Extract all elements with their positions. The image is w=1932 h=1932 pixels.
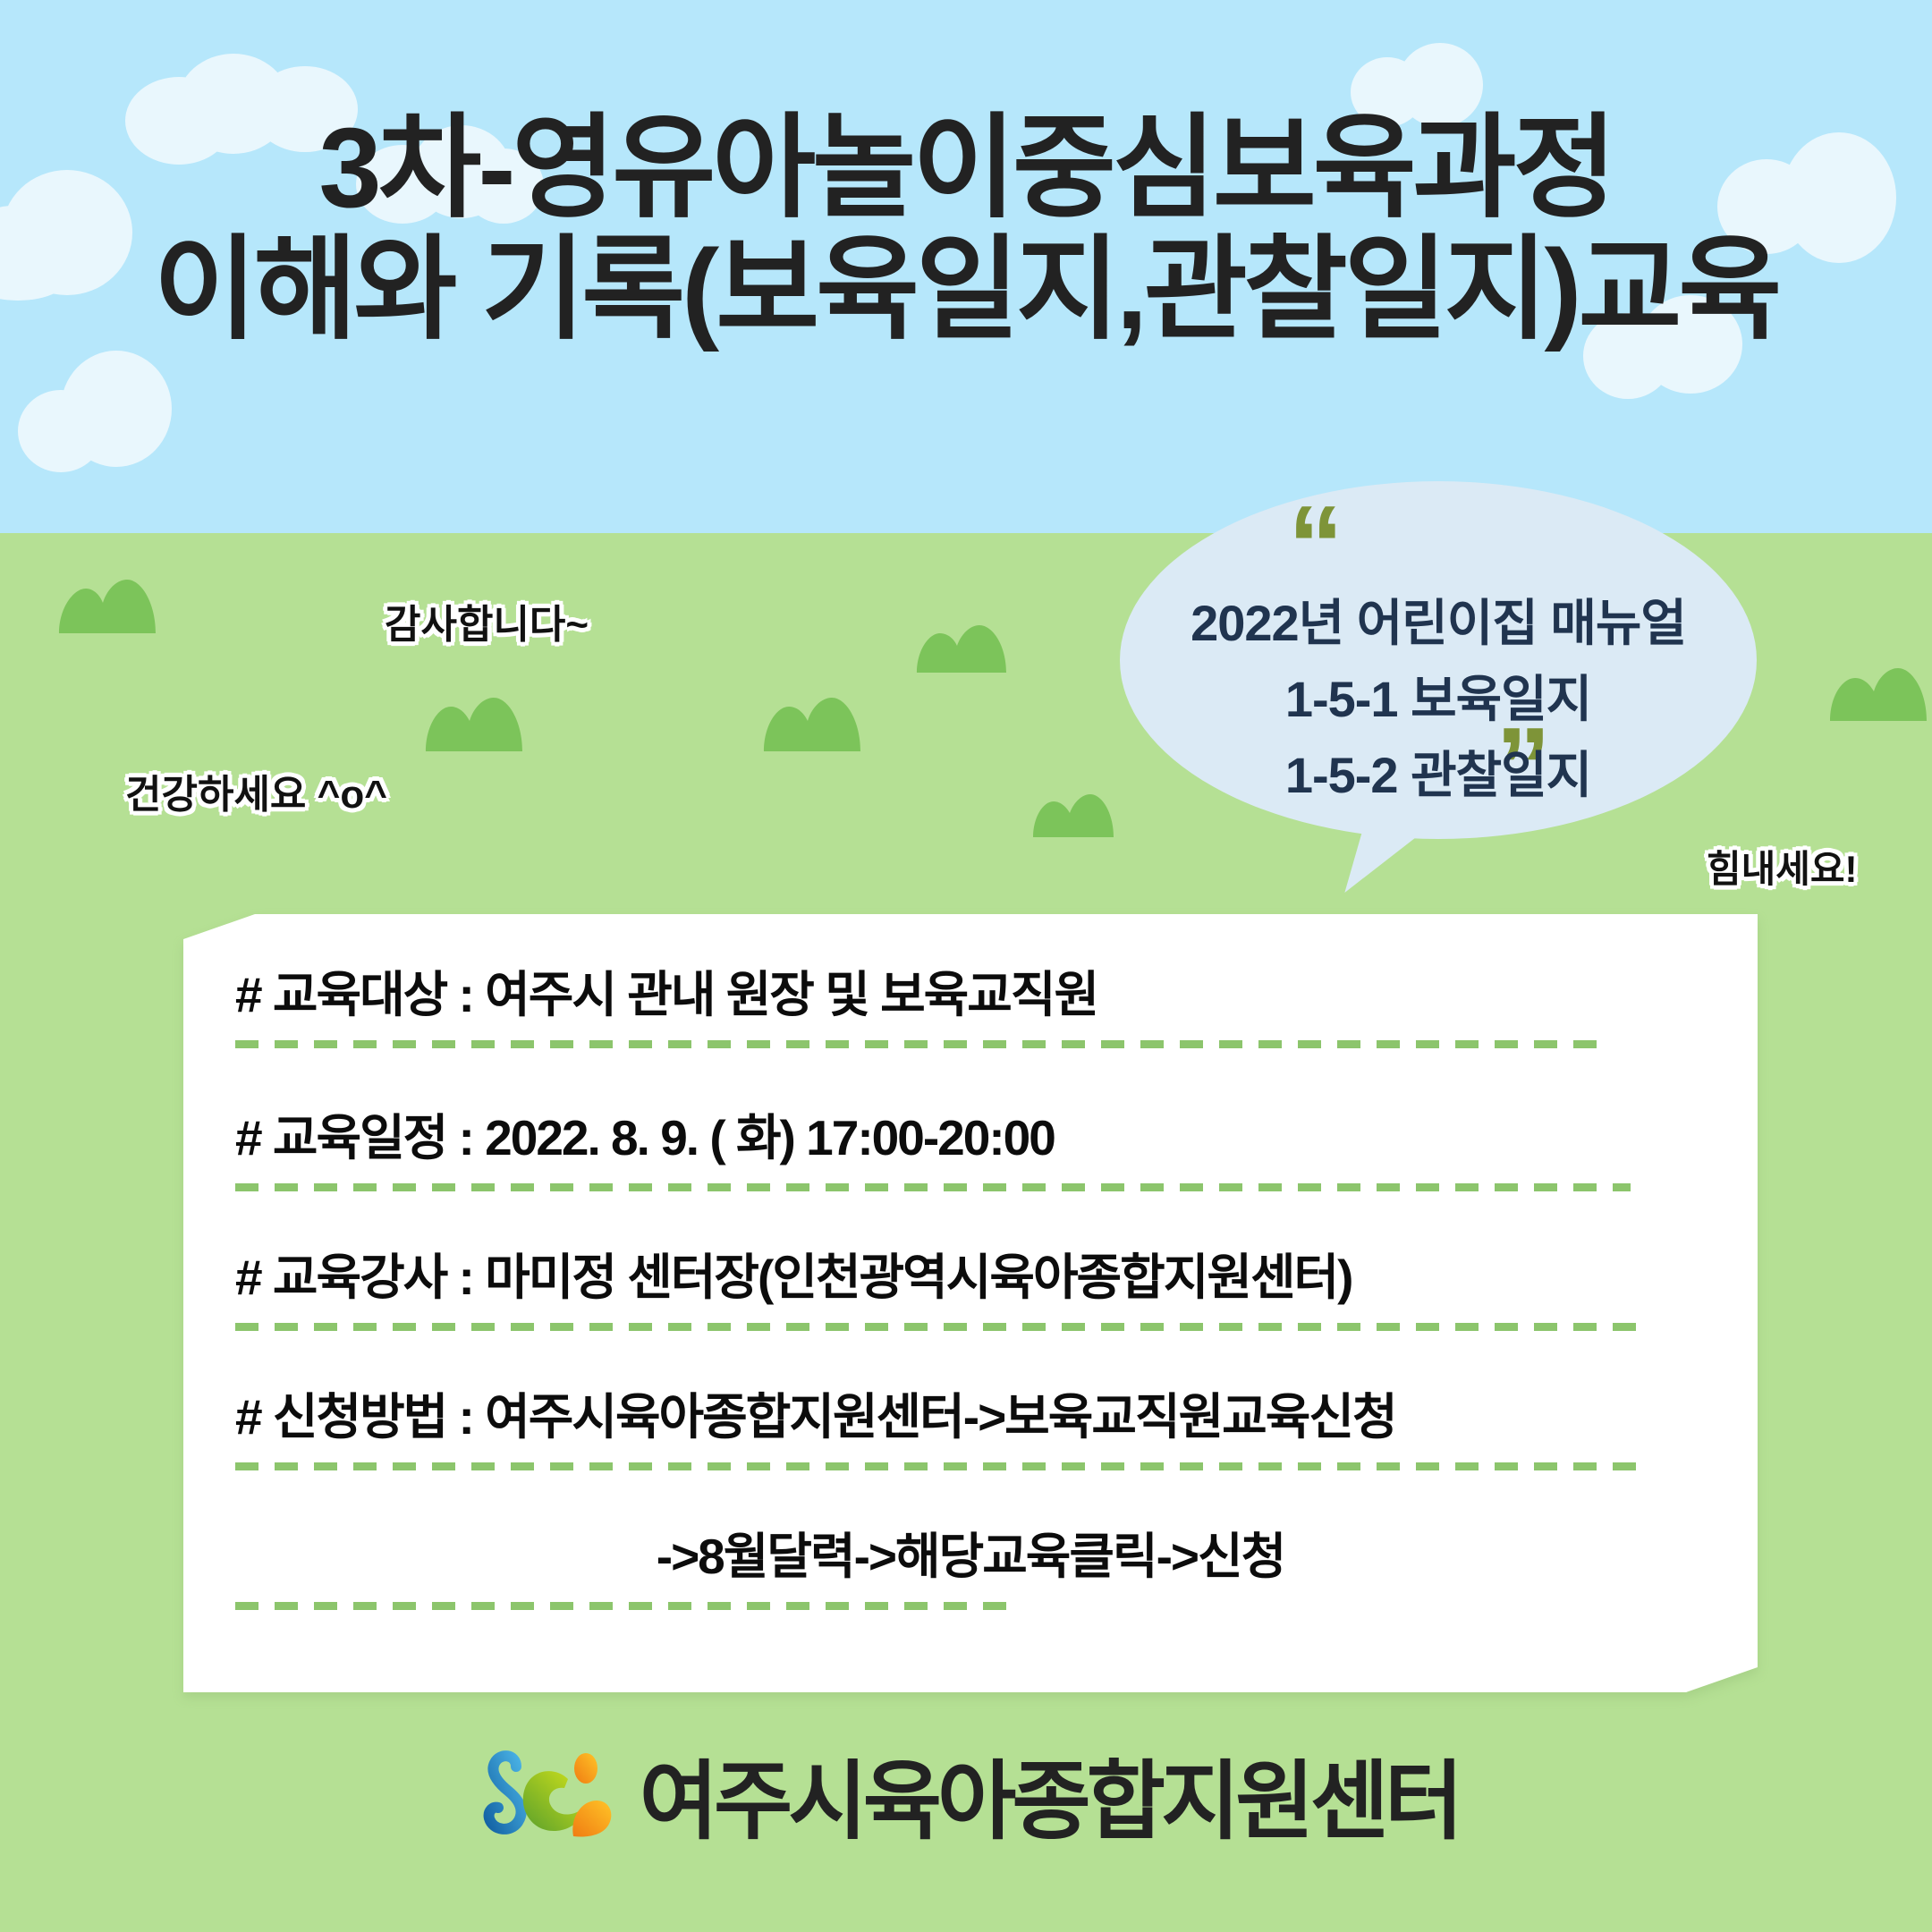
speech-bubble-text: 2022년 어린이집 매뉴얼 1-5-1 보육일지 1-5-2 관찰일지 [1120,585,1757,813]
info-row-apply-text: # 신청방법 : 여주시육아종합지원센터->보육교직원교육신청 [235,1390,1706,1445]
organization-name: 여주시육아종합지원센터 [640,1759,1460,1845]
note-health: 건강하세요 ^o^ [125,762,387,819]
info-row-apply: # 신청방법 : 여주시육아종합지원센터->보육교직원교육신청 [235,1390,1706,1470]
info-row-divider [235,1462,1640,1470]
note-thanks: 감사합니다~ [385,592,589,649]
info-row-apply-steps: ->8월달력->해당교육클릭->신청 [235,1529,1706,1610]
info-row-divider [235,1323,1640,1331]
info-row-target-text: # 교육대상 : 여주시 관내 원장 및 보육교직원 [235,968,1706,1022]
footer: 여주시육아종합지원센터 [0,1749,1932,1856]
info-card: # 교육대상 : 여주시 관내 원장 및 보육교직원 # 교육일정 : 2022… [183,914,1758,1692]
bubble-line-3: 1-5-2 관찰일지 [1120,737,1757,813]
bubble-line-2: 1-5-1 보육일지 [1120,661,1757,737]
title-line-1: 3차-영유아놀이중심보육과정 [0,107,1932,229]
bubble-line-1: 2022년 어린이집 매뉴얼 [1120,585,1757,661]
title-line-2: 이해와 기록(보육일지,관찰일지)교육 [0,229,1932,351]
info-row-date-text: # 교육일정 : 2022. 8. 9. ( 화) 17:00-20:00 [235,1111,1706,1165]
info-row-apply-steps-text: ->8월달력->해당교육클릭->신청 [235,1529,1706,1584]
poster-title: 3차-영유아놀이중심보육과정 이해와 기록(보육일지,관찰일지)교육 [0,107,1932,351]
info-row-divider [235,1183,1631,1191]
speech-bubble: “ ” 2022년 어린이집 매뉴얼 1-5-1 보육일지 1-5-2 관찰일지 [1120,481,1757,866]
info-row-lecturer: # 교육강사 : 마미정 센터장(인천광역시육아종합지원센터) [235,1250,1706,1331]
info-row-lecturer-text: # 교육강사 : 마미정 센터장(인천광역시육아종합지원센터) [235,1250,1706,1305]
info-row-date: # 교육일정 : 2022. 8. 9. ( 화) 17:00-20:00 [235,1111,1706,1191]
info-row-target: # 교육대상 : 여주시 관내 원장 및 보육교직원 [235,968,1706,1048]
info-row-divider [235,1602,1022,1610]
poster-canvas: 3차-영유아놀이중심보육과정 이해와 기록(보육일지,관찰일지)교육 감사합니다… [0,0,1932,1932]
info-row-divider [235,1040,1613,1048]
note-cheerup: 힘내세요! [1707,839,1858,894]
sc-center-logo-icon [473,1749,616,1856]
